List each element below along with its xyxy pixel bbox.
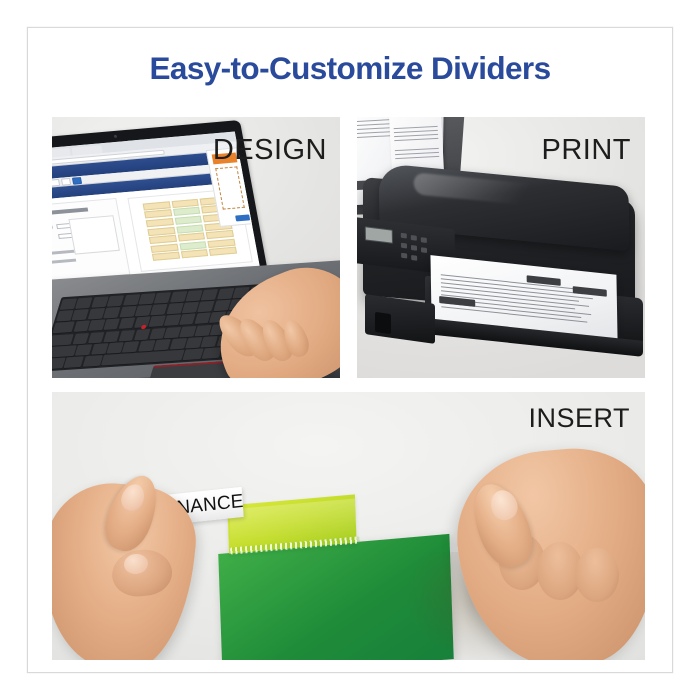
panel-label-design: DESIGN — [213, 134, 327, 167]
template-cell — [152, 252, 180, 261]
lid-highlight — [414, 173, 569, 210]
template-cell — [209, 247, 237, 256]
memory-card-slot — [375, 312, 391, 334]
form-heading — [52, 207, 88, 215]
product-image-canvas: Easy-to-Customize Dividers — [0, 0, 700, 700]
printer-button[interactable] — [401, 253, 407, 259]
panel-print: PRINT — [357, 117, 645, 378]
panel-insert: FINANCE INSERT — [52, 392, 645, 660]
printer-button[interactable] — [411, 245, 417, 251]
form-preview-box — [69, 215, 120, 255]
preview-badge — [235, 214, 250, 221]
page-title: Easy-to-Customize Dividers — [0, 50, 700, 87]
radio-label — [52, 250, 75, 256]
panel-label-insert: INSERT — [528, 403, 630, 434]
design-options-form — [52, 198, 130, 284]
panel-design: DESIGN — [52, 117, 340, 378]
printer-button[interactable] — [411, 255, 417, 261]
webcam-icon — [113, 135, 117, 138]
printer-button[interactable] — [401, 243, 407, 249]
divider-body — [218, 534, 453, 660]
form-row — [52, 256, 99, 267]
panel-label-print: PRINT — [542, 134, 632, 167]
toolbar-button — [72, 177, 82, 185]
preview-label-frame — [215, 166, 245, 209]
printer-button[interactable] — [401, 233, 407, 239]
printer-button[interactable] — [421, 247, 427, 253]
template-cell — [181, 249, 209, 258]
radio-label — [52, 259, 76, 265]
form-label — [52, 226, 53, 232]
printer-lcd-display — [365, 226, 393, 243]
knuckle — [575, 548, 619, 602]
printer-button[interactable] — [411, 235, 417, 241]
toolbar-button — [52, 179, 60, 187]
printer-button[interactable] — [421, 237, 427, 243]
toolbar-button — [61, 178, 71, 186]
